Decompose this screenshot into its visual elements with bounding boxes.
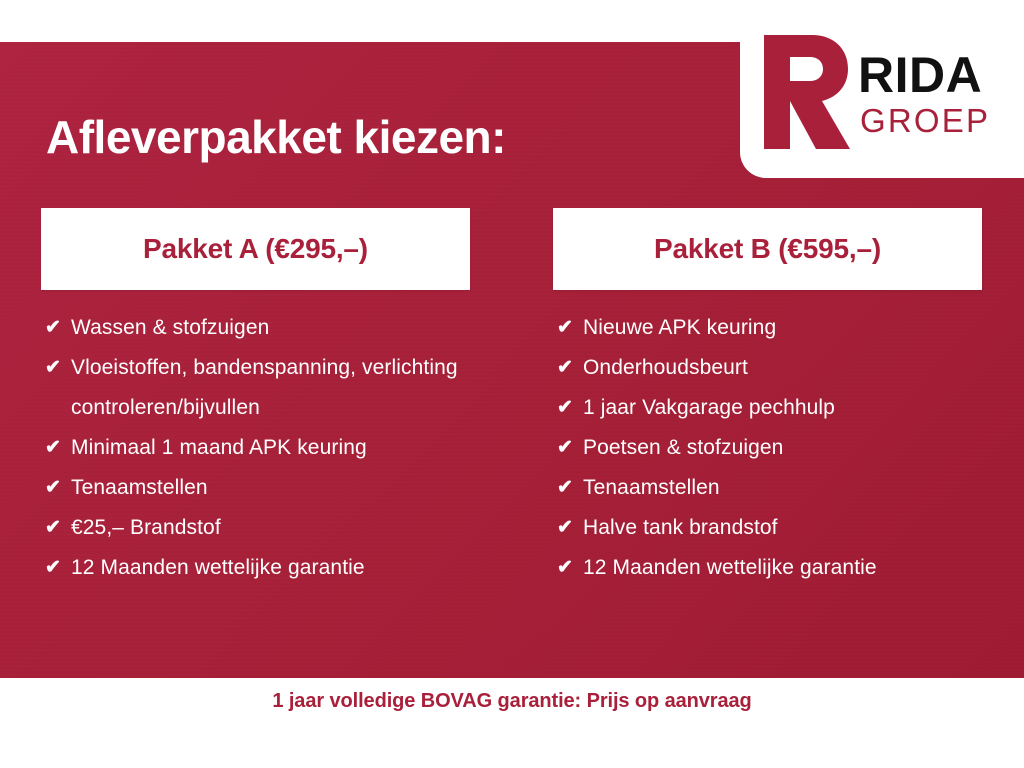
package-b-title: Pakket B (€595,–) [654, 233, 881, 265]
brand-logo: RIDA GROEP [740, 0, 1024, 178]
list-item: ✔ Poetsen & stofzuigen [553, 428, 982, 468]
list-item-label: 12 Maanden wettelijke garantie [71, 548, 463, 588]
list-item-label: Tenaamstellen [71, 468, 463, 508]
list-item-label: Vloeistoffen, bandenspanning, verlichtin… [71, 348, 463, 428]
list-item: ✔ 12 Maanden wettelijke garantie [41, 548, 470, 588]
check-icon: ✔ [553, 508, 583, 548]
logo-wordmark: RIDA GROEP [858, 50, 990, 137]
check-icon: ✔ [41, 508, 71, 548]
list-item: ✔ 12 Maanden wettelijke garantie [553, 548, 982, 588]
list-item-label: Onderhoudsbeurt [583, 348, 975, 388]
package-a-title: Pakket A (€295,–) [143, 233, 368, 265]
list-item: ✔ Nieuwe APK keuring [553, 308, 982, 348]
list-item-label: 1 jaar Vakgarage pechhulp [583, 388, 975, 428]
list-item: ✔ 1 jaar Vakgarage pechhulp [553, 388, 982, 428]
list-item-label: Halve tank brandstof [583, 508, 975, 548]
list-item: ✔ Tenaamstellen [553, 468, 982, 508]
check-icon: ✔ [41, 348, 71, 388]
list-item: ✔ €25,– Brandstof [41, 508, 470, 548]
check-icon: ✔ [553, 348, 583, 388]
footer-text: 1 jaar volledige BOVAG garantie: Prijs o… [272, 690, 751, 713]
list-item: ✔ Onderhoudsbeurt [553, 348, 982, 388]
package-a-feature-list: ✔ Wassen & stofzuigen ✔ Vloeistoffen, ba… [41, 290, 470, 588]
check-icon: ✔ [553, 548, 583, 588]
top-white-margin [0, 0, 740, 42]
footer-bar: 1 jaar volledige BOVAG garantie: Prijs o… [0, 678, 1024, 724]
package-column-b: Pakket B (€595,–) ✔ Nieuwe APK keuring ✔… [553, 208, 982, 588]
page-title: Afleverpakket kiezen: [46, 110, 506, 164]
list-item-label: Poetsen & stofzuigen [583, 428, 975, 468]
logo-name-primary: RIDA [858, 50, 990, 100]
bottom-white-margin [0, 724, 1024, 768]
list-item: ✔ Vloeistoffen, bandenspanning, verlicht… [41, 348, 470, 428]
promotional-slide: Afleverpakket kiezen: RIDA GROEP Pakket … [0, 0, 1024, 768]
package-b-header: Pakket B (€595,–) [553, 208, 982, 290]
list-item-label: Minimaal 1 maand APK keuring [71, 428, 463, 468]
package-b-feature-list: ✔ Nieuwe APK keuring ✔ Onderhoudsbeurt ✔… [553, 290, 982, 588]
check-icon: ✔ [553, 308, 583, 348]
check-icon: ✔ [553, 428, 583, 468]
list-item-label: Tenaamstellen [583, 468, 975, 508]
check-icon: ✔ [41, 308, 71, 348]
list-item: ✔ Wassen & stofzuigen [41, 308, 470, 348]
check-icon: ✔ [41, 468, 71, 508]
rida-r-monogram-icon [756, 31, 852, 153]
package-a-header: Pakket A (€295,–) [41, 208, 470, 290]
list-item-label: 12 Maanden wettelijke garantie [583, 548, 975, 588]
check-icon: ✔ [41, 548, 71, 588]
list-item-label: €25,– Brandstof [71, 508, 463, 548]
package-column-a: Pakket A (€295,–) ✔ Wassen & stofzuigen … [41, 208, 470, 588]
list-item-label: Nieuwe APK keuring [583, 308, 975, 348]
list-item: ✔ Minimaal 1 maand APK keuring [41, 428, 470, 468]
list-item: ✔ Halve tank brandstof [553, 508, 982, 548]
logo-name-secondary: GROEP [860, 104, 990, 137]
list-item-label: Wassen & stofzuigen [71, 308, 463, 348]
check-icon: ✔ [41, 428, 71, 468]
check-icon: ✔ [553, 468, 583, 508]
list-item: ✔ Tenaamstellen [41, 468, 470, 508]
check-icon: ✔ [553, 388, 583, 428]
